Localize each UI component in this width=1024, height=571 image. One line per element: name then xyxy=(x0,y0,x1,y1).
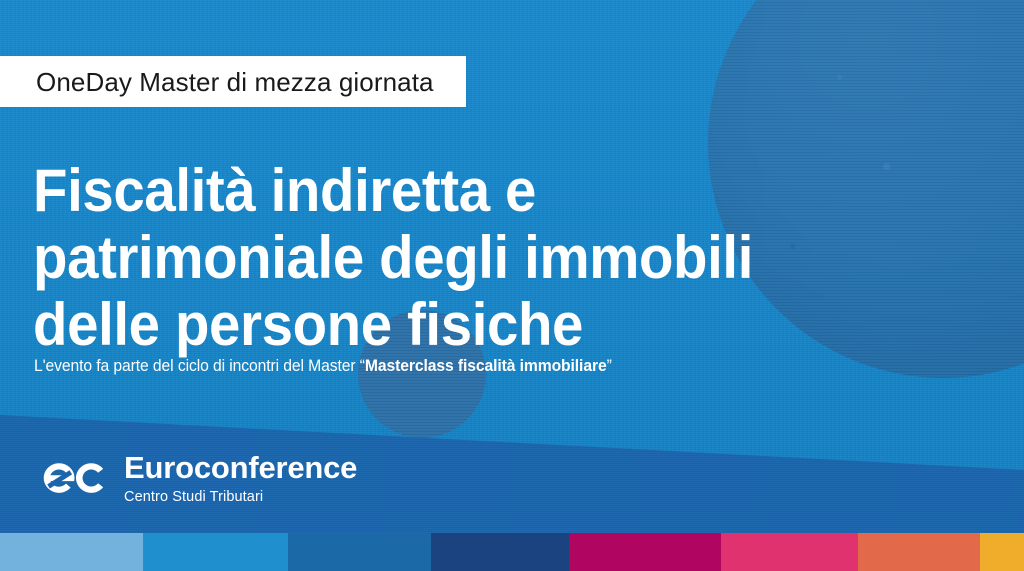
color-swatch-magenta xyxy=(569,533,721,571)
subtitle-prefix: L'evento fa parte del ciclo di incontri … xyxy=(34,357,365,375)
headline-line-2: patrimoniale degli immobili xyxy=(33,225,860,292)
color-swatch-pink xyxy=(721,533,858,571)
page-title: Fiscalità indiretta e patrimoniale degli… xyxy=(33,158,860,359)
color-swatch-yellow xyxy=(980,533,1024,571)
color-swatch-navy-blue xyxy=(431,533,569,571)
subtitle: L'evento fa parte del ciclo di incontri … xyxy=(34,357,612,377)
euroconference-logo: Euroconference Centro Studi Tributari xyxy=(36,452,357,505)
color-swatch-orange xyxy=(858,533,980,571)
ec-monogram-icon xyxy=(36,453,110,503)
headline-line-1: Fiscalità indiretta e xyxy=(33,158,860,225)
event-promo-banner: OneDay Master di mezza giornata Fiscalit… xyxy=(0,0,1024,571)
subtitle-suffix: ” xyxy=(607,357,612,375)
eyebrow-label: OneDay Master di mezza giornata xyxy=(0,56,466,107)
logo-tagline: Centro Studi Tributari xyxy=(124,490,357,505)
color-swatch-medium-blue xyxy=(288,533,431,571)
color-swatch-light-blue xyxy=(0,533,143,571)
eyebrow-text: OneDay Master di mezza giornata xyxy=(36,69,434,95)
logo-wordmark: Euroconference Centro Studi Tributari xyxy=(124,452,357,505)
brand-color-strip xyxy=(0,533,1024,571)
color-swatch-sky-blue xyxy=(143,533,288,571)
logo-name: Euroconference xyxy=(124,452,357,483)
subtitle-master-name: Masterclass fiscalità immobiliare xyxy=(365,357,607,375)
headline-line-3: delle persone fisiche xyxy=(33,292,860,359)
